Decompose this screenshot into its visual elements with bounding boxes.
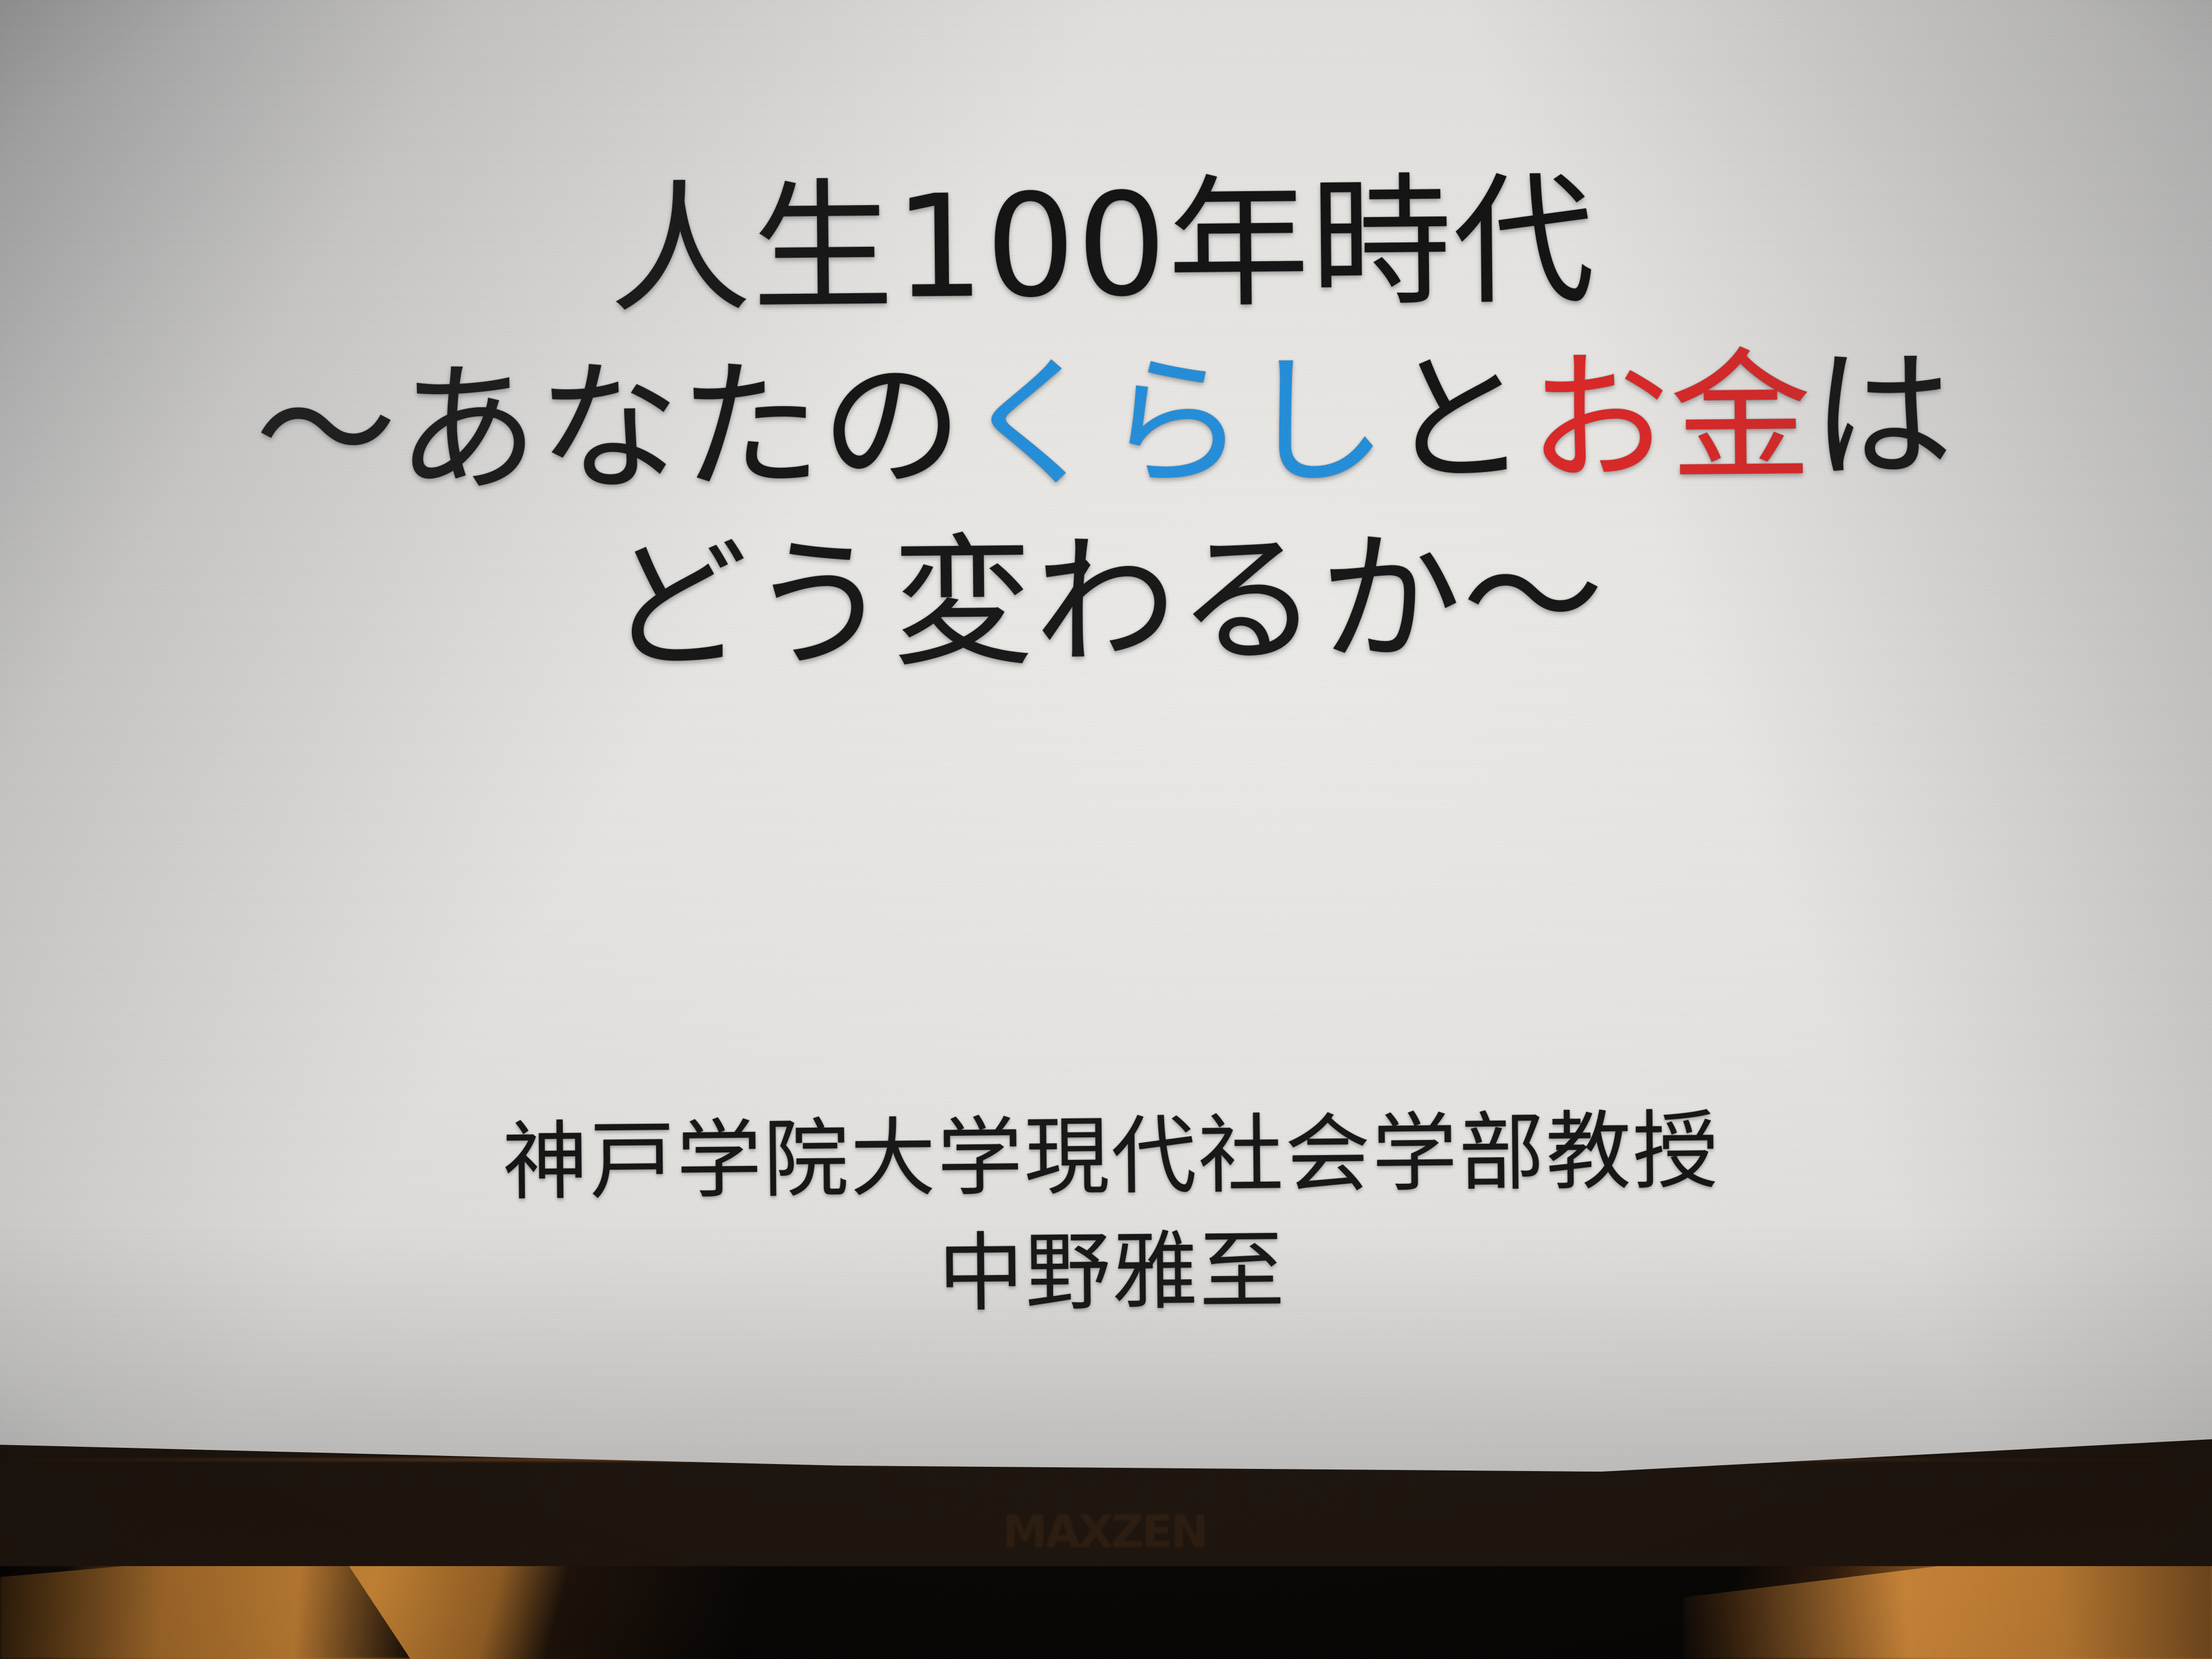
display-brand-logo: MAXZEN xyxy=(991,1507,1218,1556)
screen-pixel-grid-texture xyxy=(0,0,2212,1496)
photograph-of-presentation-screen: MAXZEN 人生100年時代 〜あなたのくらしとお金は どう変わるか〜 神戸学… xyxy=(0,0,2212,1659)
display-screen: 人生100年時代 〜あなたのくらしとお金は どう変わるか〜 神戸学院大学現代社会… xyxy=(0,0,2212,1496)
